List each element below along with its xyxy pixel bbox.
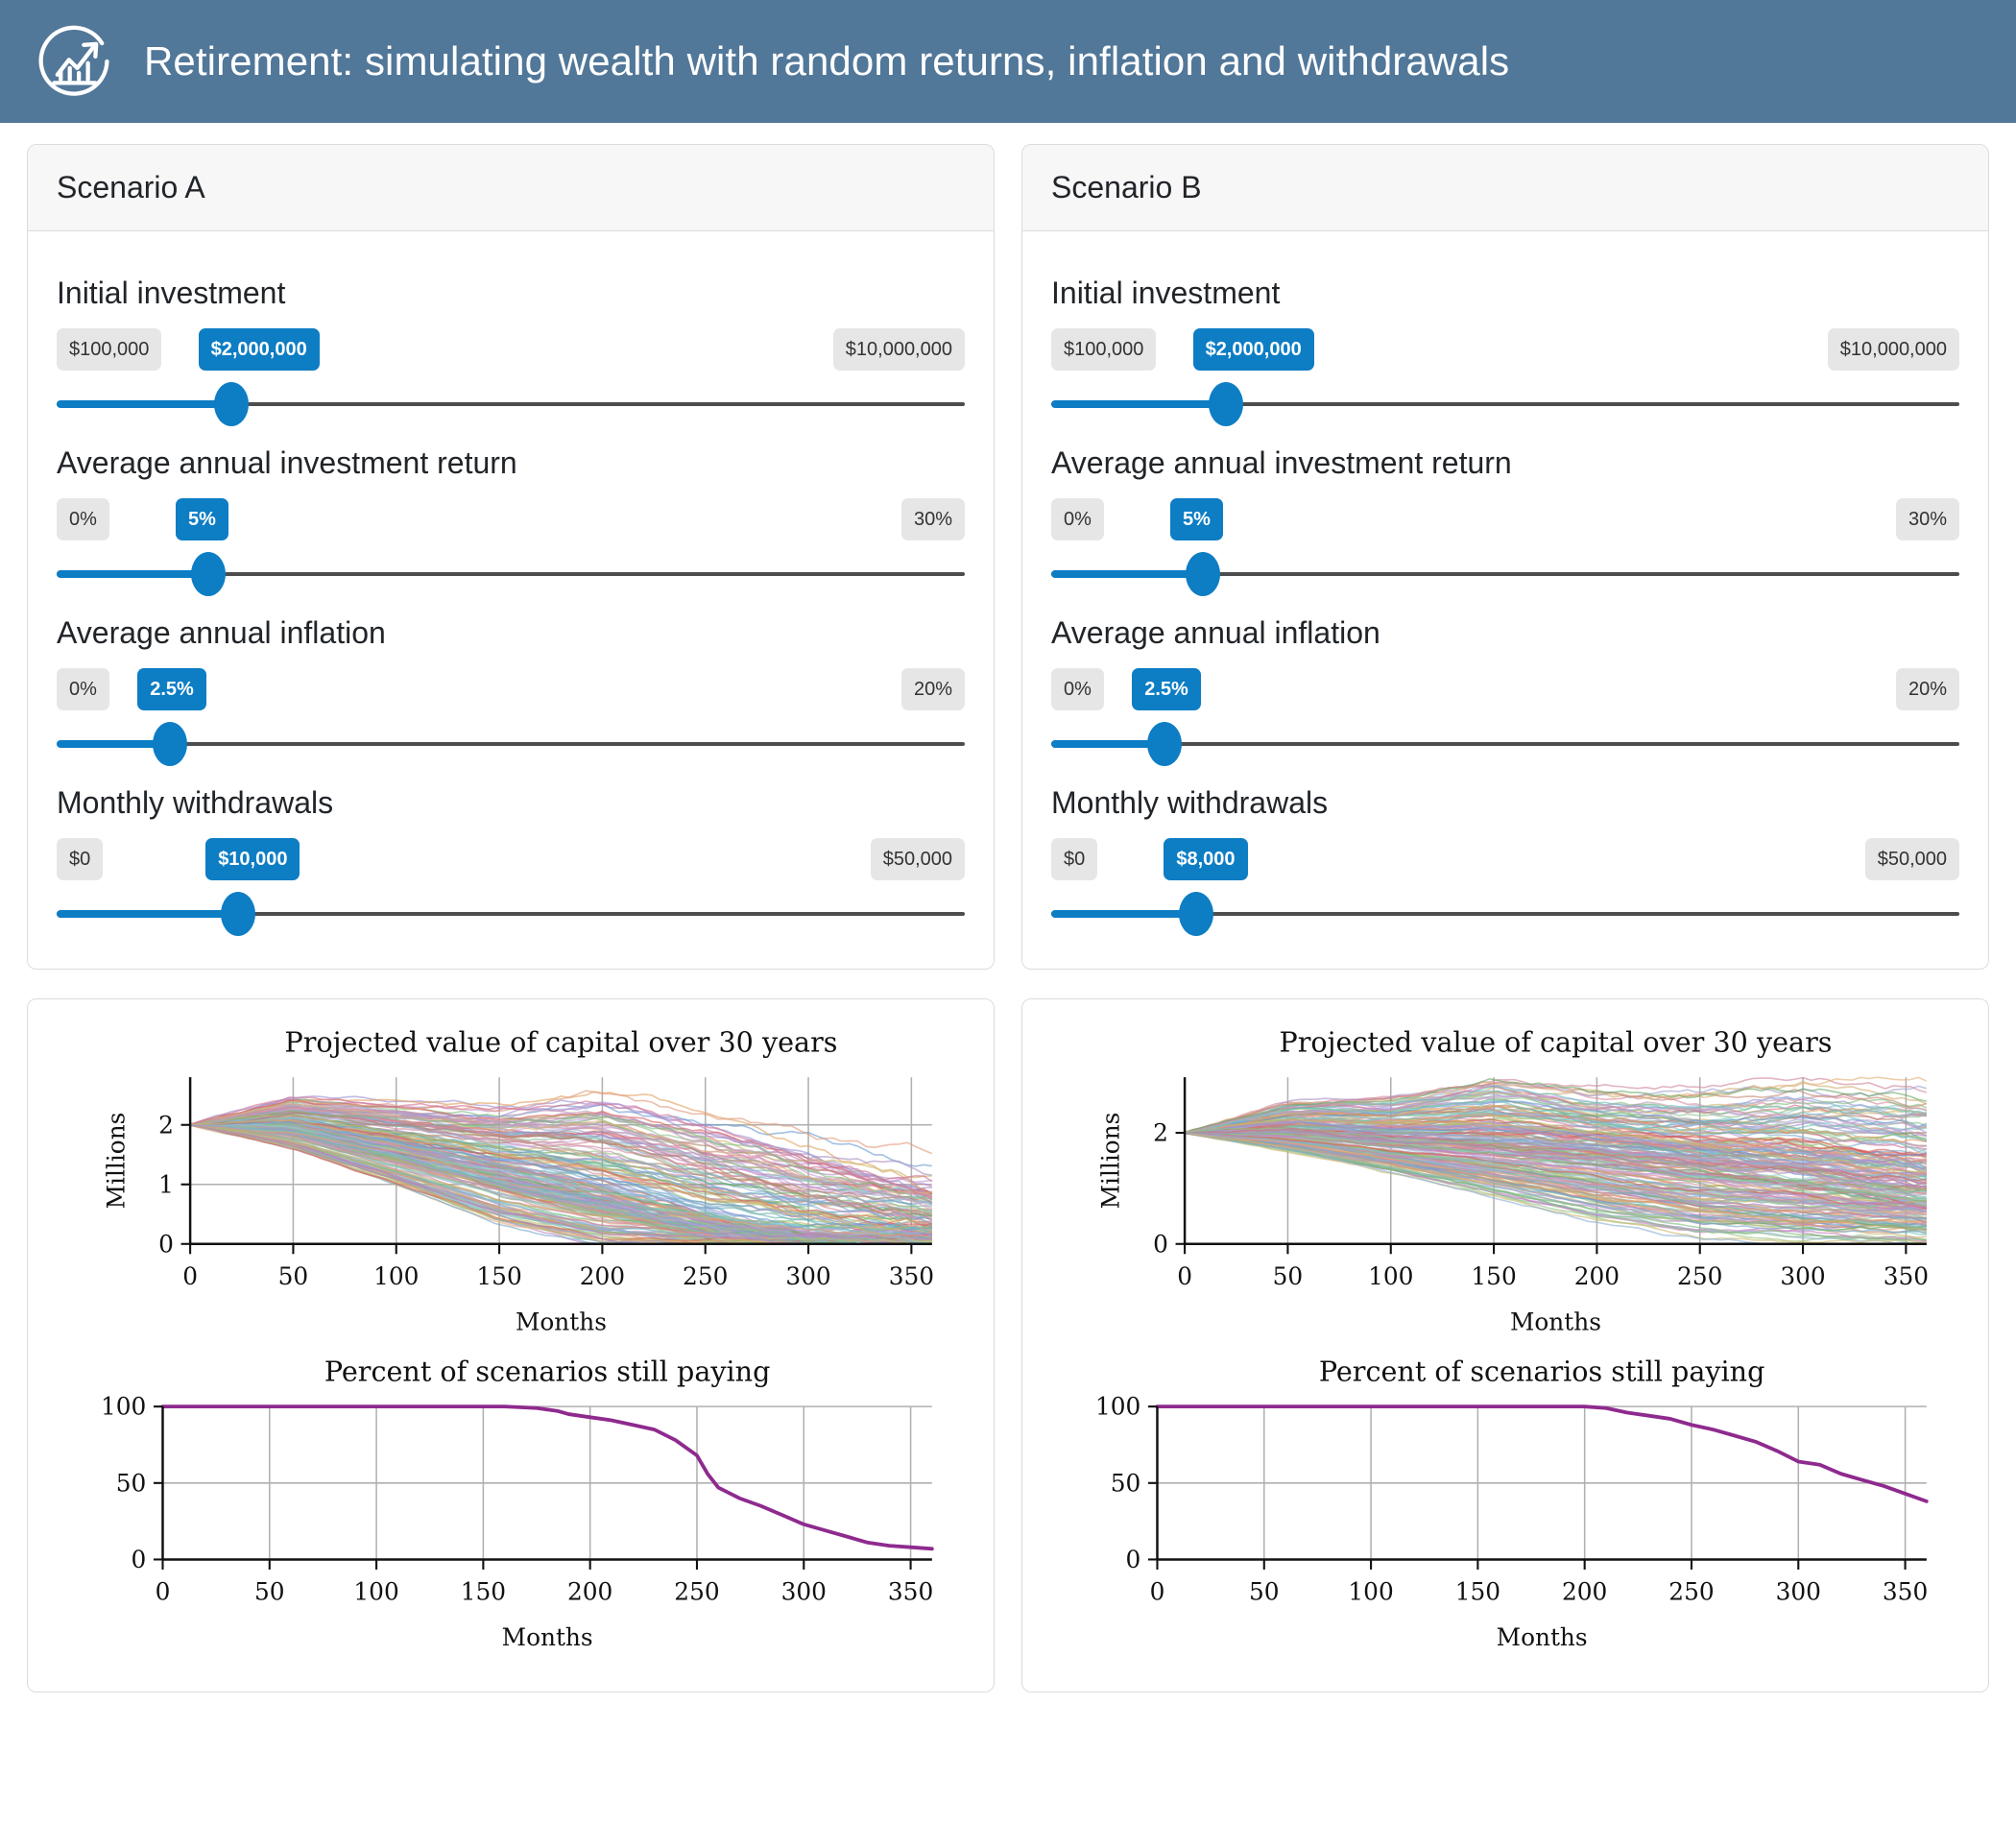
slider-track bbox=[57, 742, 965, 746]
control-label: Average annual inflation bbox=[57, 615, 965, 651]
slider-min-label: $100,000 bbox=[1051, 328, 1156, 371]
svg-text:350: 350 bbox=[1884, 1262, 1929, 1290]
svg-text:0: 0 bbox=[182, 1262, 198, 1290]
svg-text:200: 200 bbox=[1574, 1262, 1620, 1290]
svg-text:150: 150 bbox=[1455, 1578, 1500, 1606]
svg-text:100: 100 bbox=[353, 1578, 398, 1606]
control-tags: 0% 5% 30% bbox=[57, 498, 965, 546]
svg-text:50: 50 bbox=[116, 1470, 147, 1498]
slider-track bbox=[1051, 742, 1959, 746]
slider-min-label: 0% bbox=[57, 498, 109, 540]
scenario-a-card: Scenario A Initial investment $100,000 $… bbox=[27, 144, 995, 970]
svg-text:50: 50 bbox=[278, 1262, 309, 1290]
svg-text:Months: Months bbox=[1497, 1624, 1588, 1652]
slider-thumb[interactable] bbox=[1147, 722, 1182, 766]
slider-fill bbox=[1051, 400, 1226, 408]
svg-text:0: 0 bbox=[1177, 1262, 1192, 1290]
control-label: Initial investment bbox=[57, 276, 965, 311]
slider-min-label: $100,000 bbox=[57, 328, 161, 371]
control-tags: $100,000 $2,000,000 $10,000,000 bbox=[1051, 328, 1959, 376]
svg-text:50: 50 bbox=[1111, 1470, 1141, 1498]
scenario-a-title: Scenario A bbox=[57, 170, 965, 205]
slider-value-label: $2,000,000 bbox=[1193, 328, 1314, 371]
svg-text:Millions: Millions bbox=[1096, 1113, 1124, 1210]
scenario-b-header: Scenario B bbox=[1022, 145, 1988, 231]
scenario-b-charts-card: Projected value of capital over 30 years… bbox=[1021, 998, 1989, 1692]
control-label: Average annual investment return bbox=[57, 445, 965, 481]
scenario-b-title: Scenario B bbox=[1051, 170, 1959, 205]
control-tags: 0% 2.5% 20% bbox=[57, 668, 965, 716]
slider-initial-investment-b[interactable] bbox=[1051, 382, 1959, 426]
slider-monthly-withdrawals-b[interactable] bbox=[1051, 892, 1959, 936]
control-average-annual-inflation-b: Average annual inflation 0% 2.5% 20% bbox=[1051, 615, 1959, 766]
svg-text:200: 200 bbox=[1562, 1578, 1607, 1606]
scenario-a-header: Scenario A bbox=[28, 145, 994, 231]
slider-min-label: 0% bbox=[1051, 668, 1104, 710]
slider-max-label: $10,000,000 bbox=[833, 328, 965, 371]
slider-value-label: $2,000,000 bbox=[199, 328, 320, 371]
scenario-b-charts: Projected value of capital over 30 years… bbox=[1022, 999, 1988, 1692]
svg-text:300: 300 bbox=[785, 1262, 830, 1290]
slider-initial-investment-a[interactable] bbox=[57, 382, 965, 426]
slider-average-annual-inflation-a[interactable] bbox=[57, 722, 965, 766]
control-label: Monthly withdrawals bbox=[57, 785, 965, 821]
slider-fill bbox=[57, 570, 208, 578]
svg-text:50: 50 bbox=[254, 1578, 285, 1606]
slider-thumb[interactable] bbox=[1186, 552, 1220, 596]
svg-text:350: 350 bbox=[889, 1262, 934, 1290]
svg-text:100: 100 bbox=[101, 1393, 146, 1421]
scenario-b-controls: Initial investment $100,000 $2,000,000 $… bbox=[1022, 231, 1988, 969]
slider-min-label: $0 bbox=[1051, 838, 1097, 880]
control-monthly-withdrawals-a: Monthly withdrawals $0 $10,000 $50,000 bbox=[57, 785, 965, 936]
slider-value-label: 5% bbox=[176, 498, 228, 540]
scenario-b-card: Scenario B Initial investment $100,000 $… bbox=[1021, 144, 1989, 970]
svg-text:250: 250 bbox=[1677, 1262, 1722, 1290]
slider-max-label: 20% bbox=[1896, 668, 1959, 710]
capital-chart-b: Projected value of capital over 30 years… bbox=[1047, 1020, 1963, 1350]
svg-text:2: 2 bbox=[1153, 1119, 1168, 1147]
control-tags: $0 $10,000 $50,000 bbox=[57, 838, 965, 886]
control-initial-investment-b: Initial investment $100,000 $2,000,000 $… bbox=[1051, 276, 1959, 426]
svg-text:350: 350 bbox=[1883, 1578, 1928, 1606]
svg-text:Months: Months bbox=[1510, 1308, 1601, 1335]
slider-value-label: 2.5% bbox=[1132, 668, 1201, 710]
scenario-charts-row: Projected value of capital over 30 years… bbox=[27, 998, 1989, 1692]
svg-text:0: 0 bbox=[156, 1578, 171, 1606]
survival-chart-a: Percent of scenarios still paying0501000… bbox=[53, 1350, 969, 1666]
slider-thumb[interactable] bbox=[191, 552, 226, 596]
svg-text:250: 250 bbox=[1668, 1578, 1714, 1606]
app-header: Retirement: simulating wealth with rando… bbox=[0, 0, 2016, 123]
svg-text:100: 100 bbox=[1348, 1578, 1393, 1606]
svg-text:0: 0 bbox=[1153, 1230, 1168, 1258]
control-tags: $100,000 $2,000,000 $10,000,000 bbox=[57, 328, 965, 376]
svg-text:Percent of scenarios still pay: Percent of scenarios still paying bbox=[1319, 1356, 1765, 1388]
page-content: Scenario A Initial investment $100,000 $… bbox=[0, 123, 2016, 1692]
scenario-controls-row: Scenario A Initial investment $100,000 $… bbox=[27, 144, 1989, 970]
svg-text:0: 0 bbox=[132, 1546, 147, 1573]
svg-text:100: 100 bbox=[1368, 1262, 1413, 1290]
slider-thumb[interactable] bbox=[1179, 892, 1213, 936]
slider-fill bbox=[1051, 570, 1203, 578]
control-tags: $0 $8,000 $50,000 bbox=[1051, 838, 1959, 886]
slider-thumb[interactable] bbox=[1209, 382, 1243, 426]
svg-text:150: 150 bbox=[1471, 1262, 1516, 1290]
control-initial-investment-a: Initial investment $100,000 $2,000,000 $… bbox=[57, 276, 965, 426]
slider-average-annual-investment-return-b[interactable] bbox=[1051, 552, 1959, 596]
svg-text:Projected value of capital ove: Projected value of capital over 30 years bbox=[284, 1025, 837, 1058]
svg-text:250: 250 bbox=[674, 1578, 719, 1606]
svg-text:0: 0 bbox=[158, 1230, 174, 1258]
svg-text:Millions: Millions bbox=[102, 1113, 130, 1210]
svg-text:100: 100 bbox=[373, 1262, 419, 1290]
slider-average-annual-investment-return-a[interactable] bbox=[57, 552, 965, 596]
svg-text:300: 300 bbox=[781, 1578, 827, 1606]
control-monthly-withdrawals-b: Monthly withdrawals $0 $8,000 $50,000 bbox=[1051, 785, 1959, 936]
svg-text:150: 150 bbox=[461, 1578, 506, 1606]
slider-fill bbox=[57, 400, 231, 408]
control-average-annual-inflation-a: Average annual inflation 0% 2.5% 20% bbox=[57, 615, 965, 766]
svg-text:Months: Months bbox=[502, 1624, 593, 1652]
control-average-annual-investment-return-a: Average annual investment return 0% 5% 3… bbox=[57, 445, 965, 596]
svg-text:300: 300 bbox=[1780, 1262, 1825, 1290]
capital-chart-a: Projected value of capital over 30 years… bbox=[53, 1020, 969, 1350]
slider-min-label: $0 bbox=[57, 838, 103, 880]
svg-text:Months: Months bbox=[516, 1308, 607, 1335]
svg-text:50: 50 bbox=[1249, 1578, 1280, 1606]
svg-text:0: 0 bbox=[1126, 1546, 1141, 1573]
svg-text:Projected value of capital ove: Projected value of capital over 30 years bbox=[1279, 1025, 1832, 1058]
svg-text:0: 0 bbox=[1150, 1578, 1165, 1606]
slider-max-label: 30% bbox=[1896, 498, 1959, 540]
slider-max-label: 20% bbox=[901, 668, 965, 710]
slider-fill bbox=[57, 910, 238, 918]
svg-text:250: 250 bbox=[683, 1262, 728, 1290]
control-average-annual-investment-return-b: Average annual investment return 0% 5% 3… bbox=[1051, 445, 1959, 596]
slider-value-label: 2.5% bbox=[137, 668, 206, 710]
slider-max-label: $10,000,000 bbox=[1828, 328, 1959, 371]
slider-thumb[interactable] bbox=[214, 382, 249, 426]
control-label: Average annual investment return bbox=[1051, 445, 1959, 481]
svg-text:200: 200 bbox=[580, 1262, 625, 1290]
svg-text:50: 50 bbox=[1273, 1262, 1304, 1290]
svg-text:350: 350 bbox=[888, 1578, 933, 1606]
svg-text:300: 300 bbox=[1776, 1578, 1821, 1606]
slider-value-label: $8,000 bbox=[1164, 838, 1247, 880]
scenario-a-charts: Projected value of capital over 30 years… bbox=[28, 999, 994, 1692]
slider-max-label: $50,000 bbox=[1865, 838, 1959, 880]
svg-text:200: 200 bbox=[567, 1578, 612, 1606]
slider-thumb[interactable] bbox=[153, 722, 187, 766]
slider-thumb[interactable] bbox=[221, 892, 255, 936]
slider-min-label: 0% bbox=[1051, 498, 1104, 540]
slider-max-label: 30% bbox=[901, 498, 965, 540]
control-tags: 0% 2.5% 20% bbox=[1051, 668, 1959, 716]
growth-chart-circle-icon bbox=[33, 20, 115, 103]
svg-text:1: 1 bbox=[158, 1170, 174, 1198]
scenario-a-controls: Initial investment $100,000 $2,000,000 $… bbox=[28, 231, 994, 969]
survival-chart-b: Percent of scenarios still paying0501000… bbox=[1047, 1350, 1963, 1666]
slider-max-label: $50,000 bbox=[871, 838, 965, 880]
slider-min-label: 0% bbox=[57, 668, 109, 710]
slider-average-annual-inflation-b[interactable] bbox=[1051, 722, 1959, 766]
scenario-a-charts-card: Projected value of capital over 30 years… bbox=[27, 998, 995, 1692]
svg-text:100: 100 bbox=[1095, 1393, 1140, 1421]
control-label: Average annual inflation bbox=[1051, 615, 1959, 651]
control-label: Monthly withdrawals bbox=[1051, 785, 1959, 821]
svg-text:2: 2 bbox=[158, 1111, 174, 1139]
control-tags: 0% 5% 30% bbox=[1051, 498, 1959, 546]
control-label: Initial investment bbox=[1051, 276, 1959, 311]
app-title: Retirement: simulating wealth with rando… bbox=[144, 38, 1509, 84]
slider-monthly-withdrawals-a[interactable] bbox=[57, 892, 965, 936]
slider-fill bbox=[1051, 910, 1196, 918]
svg-text:Percent of scenarios still pay: Percent of scenarios still paying bbox=[324, 1356, 771, 1388]
slider-value-label: $10,000 bbox=[205, 838, 300, 880]
slider-value-label: 5% bbox=[1170, 498, 1223, 540]
svg-text:150: 150 bbox=[476, 1262, 521, 1290]
